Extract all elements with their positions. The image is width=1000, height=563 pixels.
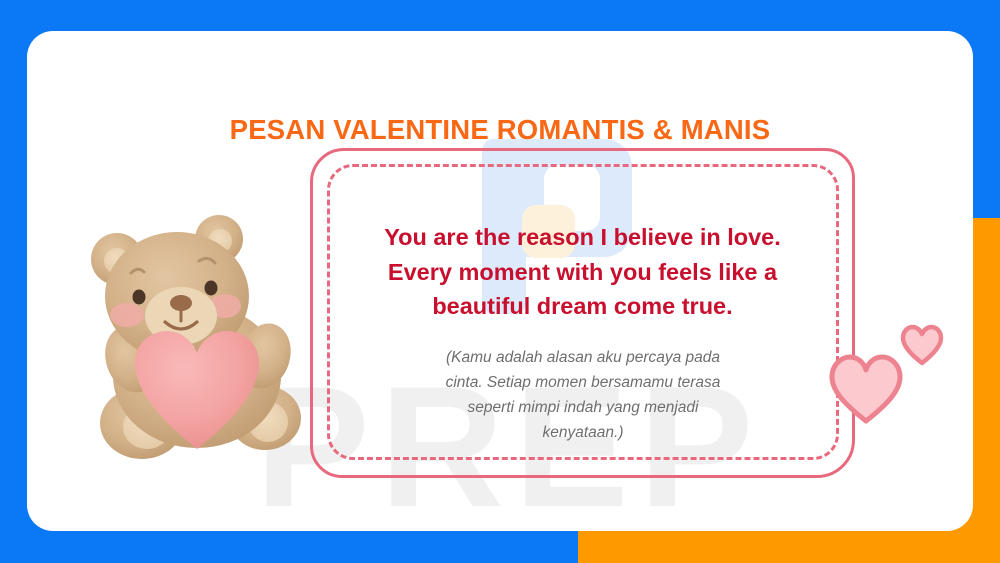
message-line-1: You are the reason I believe in love. [350, 220, 815, 255]
slide-canvas: PREP PESAN VALENTINE ROMANTIS & MANIS [0, 0, 1000, 563]
content-card: PREP PESAN VALENTINE ROMANTIS & MANIS [27, 31, 973, 531]
heart-icon-large [827, 352, 905, 431]
translation-line-3: seperti mimpi indah yang menjadi [388, 395, 778, 420]
translation-line-4: kenyataan.) [388, 420, 778, 445]
valentine-translation: (Kamu adalah alasan aku percaya pada cin… [388, 345, 778, 445]
page-title: PESAN VALENTINE ROMANTIS & MANIS [27, 114, 973, 146]
message-line-2: Every moment with you feels like a [350, 255, 815, 290]
message-line-3: beautiful dream come true. [350, 289, 815, 324]
translation-line-2: cinta. Setiap momen bersamamu terasa [388, 370, 778, 395]
translation-line-1: (Kamu adalah alasan aku percaya pada [388, 345, 778, 370]
valentine-message: You are the reason I believe in love. Ev… [350, 220, 815, 324]
message-frame: You are the reason I believe in love. Ev… [310, 148, 855, 478]
teddy-bear-illustration [69, 211, 319, 471]
heart-icon-small [899, 323, 945, 372]
